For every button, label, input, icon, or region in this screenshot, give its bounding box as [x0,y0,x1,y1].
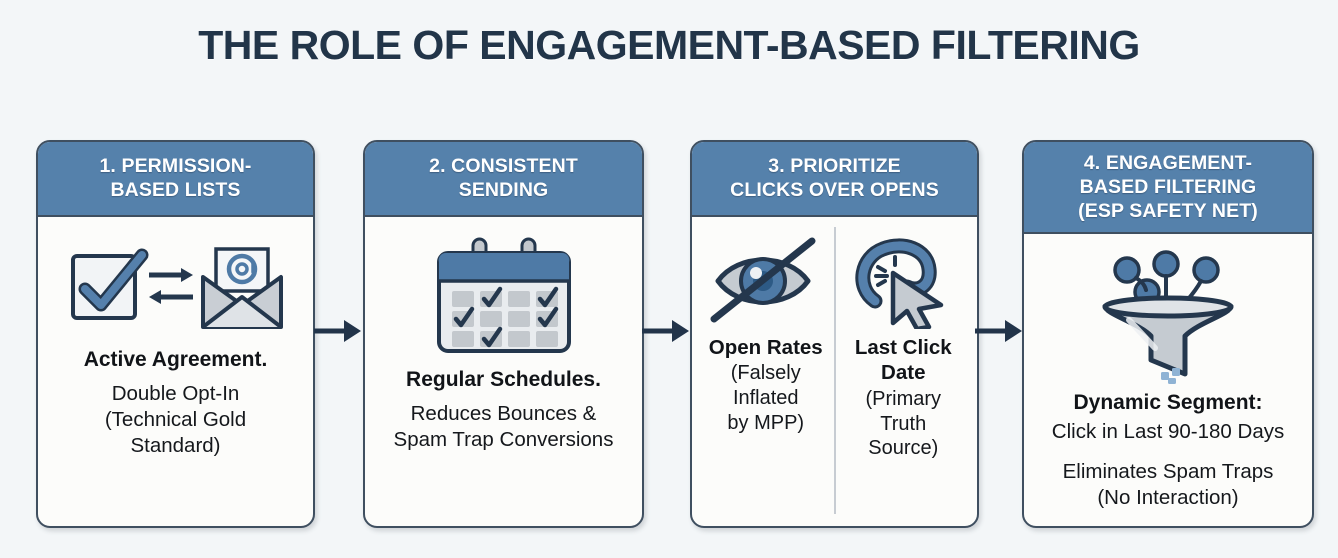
card-2-header: 2. CONSISTENT SENDING [365,142,642,217]
card-1-sub-line2: (Technical Gold [105,408,246,431]
card-4-body: Dynamic Segment: Click in Last 90-180 Da… [1024,234,1312,526]
card-1-text: Active Agreement. Double Opt-In (Technic… [48,347,303,460]
card-3-column-last-click-date: Last Click Date (Primary Truth Source) [836,223,972,520]
card-3-header: 3. PRIORITIZE CLICKS OVER OPENS [692,142,977,217]
card-4-sub-line3: (No Interaction) [1097,486,1238,509]
card-1-body: Active Agreement. Double Opt-In (Technic… [38,217,313,526]
link-click-cursor-icon [845,223,961,335]
card-3-col2-lead-line1: Last Click [855,336,952,359]
card-engagement-based-filtering[interactable]: 4. ENGAGEMENT- BASED FILTERING (ESP SAFE… [1022,140,1314,528]
card-4-sub-line2: Eliminates Spam Traps [1063,460,1274,483]
card-3-col2-lead-line2: Date [881,361,925,384]
card-3-columns: Open Rates (Falsely Inflated by MPP) [698,223,971,520]
card-3-col2-sub: (Primary Truth Source) [840,387,968,461]
checkbox-exchange-envelope-icon [68,227,283,347]
process-flow-diagram: 1. PERMISSION- BASED LISTS [0,140,1338,532]
card-3-col1-lead: Open Rates [702,335,830,361]
card-3-col1-sub: (Falsely Inflated by MPP) [702,361,830,435]
card-3-header-line1: 3. PRIORITIZE [768,155,900,177]
card-4-header: 4. ENGAGEMENT- BASED FILTERING (ESP SAFE… [1024,142,1312,234]
arrow-3-to-4 [975,316,1023,346]
card-1-sub: Double Opt-In (Technical Gold Standard) [48,381,303,460]
card-1-header-line2: BASED LISTS [110,179,240,201]
card-consistent-sending[interactable]: 2. CONSISTENT SENDING [363,140,644,528]
card-2-header-line2: SENDING [459,179,549,201]
card-3-col1-sub-line3: by MPP) [727,412,804,434]
card-2-header-line1: 2. CONSISTENT [429,155,578,177]
card-4-header-line3: (ESP SAFETY NET) [1078,200,1258,222]
card-permission-based-lists[interactable]: 1. PERMISSION- BASED LISTS [36,140,315,528]
card-3-col2-sub-line1: (Primary [865,388,941,410]
card-4-text: Dynamic Segment: Click in Last 90-180 Da… [1034,390,1302,511]
card-1-header: 1. PERMISSION- BASED LISTS [38,142,313,217]
card-4-lead: Dynamic Segment: [1034,390,1302,416]
card-2-sub-line1: Reduces Bounces & [411,402,597,425]
card-4-sub-first: Click in Last 90-180 Days [1034,419,1302,445]
card-3-body: Open Rates (Falsely Inflated by MPP) [692,217,977,526]
card-1-sub-line1: Double Opt-In [112,382,240,405]
card-4-header-line2: BASED FILTERING [1080,176,1257,198]
card-prioritize-clicks-over-opens[interactable]: 3. PRIORITIZE CLICKS OVER OPENS [690,140,979,528]
card-3-col1-text: Open Rates (Falsely Inflated by MPP) [702,335,830,436]
card-3-header-line2: CLICKS OVER OPENS [730,179,939,201]
card-1-lead: Active Agreement. [48,347,303,373]
card-2-lead: Regular Schedules. [375,367,632,393]
card-3-col2-text: Last Click Date (Primary Truth Source) [840,335,968,462]
card-4-header-line1: 4. ENGAGEMENT- [1084,152,1252,174]
card-2-sub-line2: Spam Trap Conversions [394,428,614,451]
card-1-sub-line3: Standard) [130,434,220,457]
card-3-col2-sub-line3: Source) [868,437,938,459]
card-3-col1-sub-line2: Inflated [733,387,799,409]
eye-slash-icon [708,223,824,335]
page-title: THE ROLE OF ENGAGEMENT-BASED FILTERING [0,22,1338,69]
card-4-sub-second: Eliminates Spam Traps (No Interaction) [1034,459,1302,511]
calendar-schedule-icon [421,227,587,367]
card-2-text: Regular Schedules. Reduces Bounces & Spa… [375,367,632,454]
card-3-column-open-rates: Open Rates (Falsely Inflated by MPP) [698,223,834,520]
card-2-sub: Reduces Bounces & Spam Trap Conversions [375,401,632,453]
card-1-header-line1: 1. PERMISSION- [99,155,251,177]
funnel-filter-icon [1089,244,1247,390]
card-3-col2-sub-line2: Truth [880,413,926,435]
card-3-col2-lead: Last Click Date [840,335,968,386]
arrow-1-to-2 [314,316,362,346]
arrow-2-to-3 [642,316,690,346]
card-2-body: Regular Schedules. Reduces Bounces & Spa… [365,217,642,526]
card-3-col1-sub-line1: (Falsely [731,362,801,384]
